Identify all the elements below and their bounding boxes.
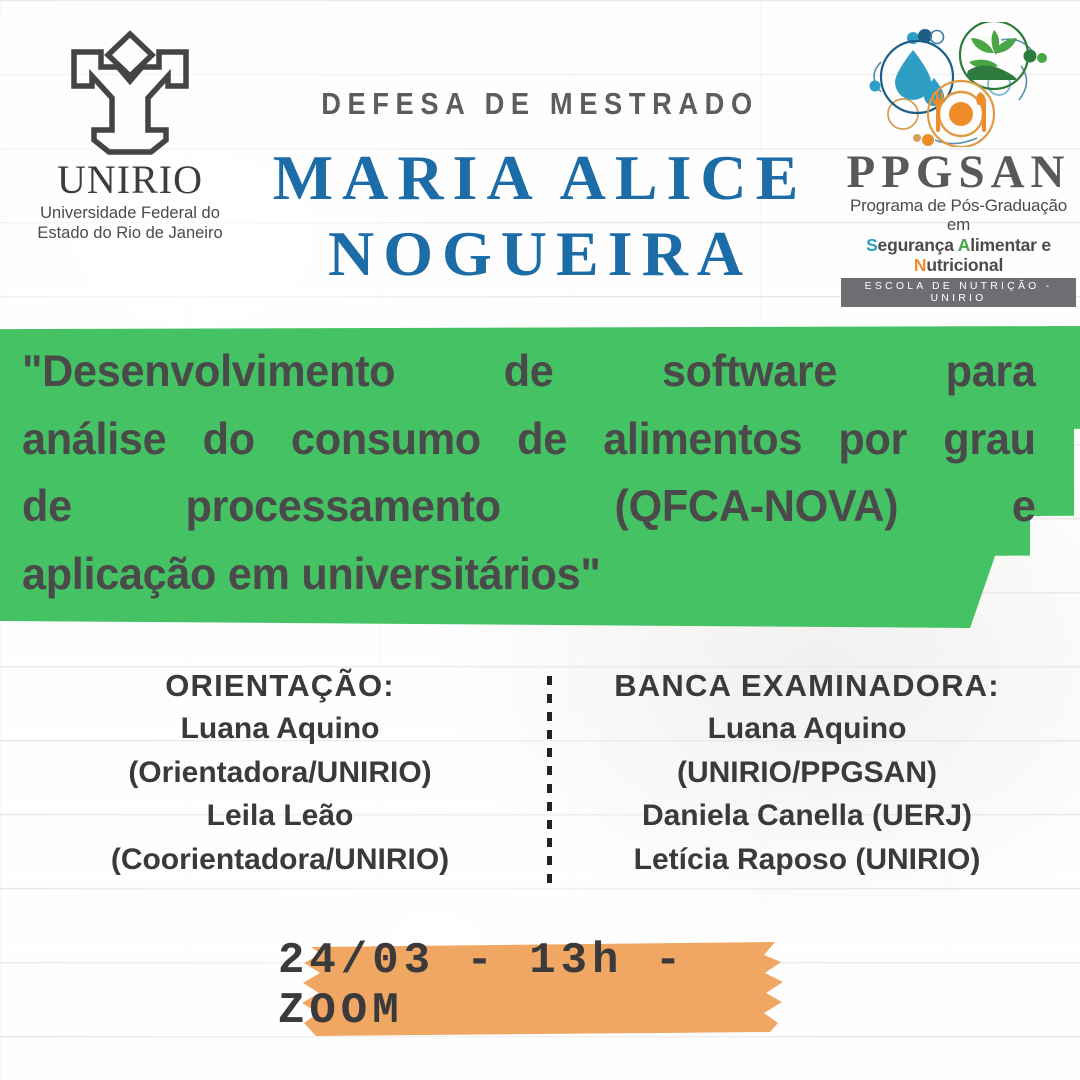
defense-announcement-poster: UNIRIO Universidade Federal do Estado do… (0, 0, 1080, 1080)
ppgsan-tagline-alimentar: limentar e (970, 235, 1051, 255)
ppgsan-tagline-a: A (958, 235, 970, 255)
advisor-line: Leila Leão (30, 794, 530, 838)
committee-section: ORIENTAÇÃO: Luana Aquino (Orientadora/UN… (0, 668, 1080, 908)
thesis-title-line4: aplicação em universitários" (22, 541, 1036, 609)
event-details-banner: 24/03 - 13h - ZOOM (278, 935, 813, 1040)
thesis-title-line2: análise do consumo de alimentos por grau (22, 406, 1036, 474)
advisors-column: ORIENTAÇÃO: Luana Aquino (Orientadora/UN… (30, 668, 530, 881)
advisors-heading: ORIENTAÇÃO: (30, 668, 530, 704)
examiner-line: Daniela Canella (UERJ) (552, 794, 1062, 838)
thesis-title-banner: "Desenvolvimento de software para anális… (0, 300, 1080, 630)
dotted-divider (547, 676, 552, 888)
examiners-column: BANCA EXAMINADORA: Luana Aquino (UNIRIO/… (552, 668, 1062, 881)
eyebrow-label: DEFESA DE MESTRADO (65, 86, 1015, 122)
examiner-line: Luana Aquino (552, 707, 1062, 751)
page-title: MARIA ALICE NOGUEIRA (150, 140, 930, 291)
ppgsan-tagline-nutricional: utricional (926, 255, 1003, 275)
thesis-title-line3: de processamento (QFCA-NOVA) e (22, 473, 1036, 541)
advisor-line: Luana Aquino (30, 707, 530, 751)
student-name-line1: MARIA ALICE (273, 142, 808, 213)
thesis-title-line1: "Desenvolvimento de software para (22, 338, 1036, 406)
advisor-line: (Orientadora/UNIRIO) (30, 751, 530, 795)
student-name-line2: NOGUEIRA (328, 218, 752, 289)
examiner-line: Letícia Raposo (UNIRIO) (552, 838, 1062, 882)
advisor-line: (Coorientadora/UNIRIO) (30, 838, 530, 882)
event-details-text: 24/03 - 13h - ZOOM (278, 935, 813, 1040)
thesis-title: "Desenvolvimento de software para anális… (22, 338, 1036, 609)
examiners-heading: BANCA EXAMINADORA: (552, 668, 1062, 704)
examiner-line: (UNIRIO/PPGSAN) (552, 751, 1062, 795)
